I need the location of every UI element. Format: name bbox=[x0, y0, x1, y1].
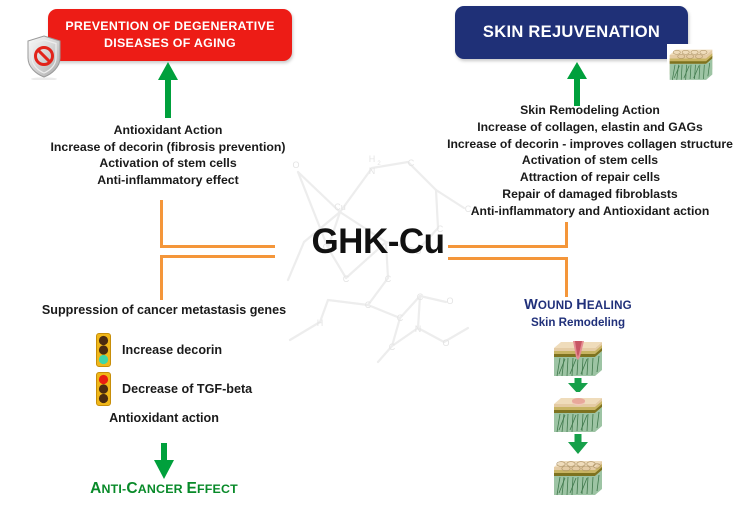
skin-wound-closing-icon bbox=[551, 392, 605, 434]
arrow-down-healing-2 bbox=[567, 434, 589, 454]
center-label-ghk-cu: GHK-Cu bbox=[278, 222, 478, 262]
skin-healed-icon bbox=[551, 455, 605, 497]
anti-cancer-effect-label: ANTI-CANCER EFFECT bbox=[14, 480, 314, 498]
diagram-canvas: O H 2 N C Cu C O C C C C H C C O N C O C… bbox=[0, 0, 756, 508]
svg-text:H: H bbox=[369, 154, 376, 164]
skin-rejuvenation-title-box: SKIN REJUVENATION bbox=[455, 6, 688, 59]
left-effect-3: Anti-inflammatory effect bbox=[20, 172, 316, 189]
svg-text:C: C bbox=[365, 300, 372, 310]
wound-healing-subtitle: Skin Remodeling bbox=[478, 316, 678, 329]
left-effect-0: Antioxidant Action bbox=[20, 122, 316, 139]
prevention-title-line1: PREVENTION OF DEGENERATIVE bbox=[65, 19, 274, 33]
svg-text:C: C bbox=[389, 342, 396, 352]
traffic-light-red-icon bbox=[96, 372, 111, 406]
right-effect-4: Attraction of repair cells bbox=[424, 169, 756, 186]
left-effect-2: Activation of stem cells bbox=[20, 155, 316, 172]
prevention-title-box: PREVENTION OF DEGENERATIVE DISEASES OF A… bbox=[48, 9, 292, 61]
connector-right-lower-vertical bbox=[565, 257, 568, 297]
anticancer-c: C bbox=[126, 480, 137, 497]
svg-text:C: C bbox=[408, 158, 415, 168]
right-effect-5: Repair of damaged fibroblasts bbox=[424, 186, 756, 203]
svg-text:2: 2 bbox=[377, 161, 381, 167]
svg-text:C: C bbox=[343, 274, 350, 284]
left-effects-list: Antioxidant Action Increase of decorin (… bbox=[20, 122, 316, 188]
wound-healing-title: WOUND HEALING bbox=[478, 297, 678, 313]
skin-rejuvenation-title: SKIN REJUVENATION bbox=[483, 23, 660, 42]
svg-text:C: C bbox=[417, 292, 424, 302]
connector-right-upper-horizontal bbox=[448, 245, 568, 248]
anticancer-e: E bbox=[186, 480, 197, 497]
connector-left-lower-horizontal bbox=[160, 255, 275, 258]
svg-text:N: N bbox=[415, 324, 422, 334]
wound-h: H bbox=[576, 297, 587, 313]
cancer-suppression-heading: Suppression of cancer metastasis genes bbox=[14, 303, 314, 317]
antioxidant-action-line: Antioxidant action bbox=[14, 411, 314, 425]
wound-ound: OUND bbox=[538, 299, 576, 312]
bullet-label-increase-decorin: Increase decorin bbox=[122, 343, 222, 357]
right-effect-6: Anti-inflammatory and Antioxidant action bbox=[424, 203, 756, 220]
arrow-up-left bbox=[156, 62, 180, 118]
bullet-row-decrease-tgf-beta: Decrease of TGF-beta bbox=[96, 372, 252, 406]
connector-left-lower-vertical bbox=[160, 255, 163, 300]
svg-text:O: O bbox=[442, 338, 449, 348]
svg-text:N: N bbox=[369, 166, 376, 176]
anticancer-ancer: ANCER bbox=[138, 482, 187, 496]
shield-prohibition-icon bbox=[24, 34, 64, 80]
left-effect-1: Increase of decorin (fibrosis prevention… bbox=[20, 139, 316, 156]
right-effects-list: Skin Remodeling Action Increase of colla… bbox=[424, 102, 756, 220]
connector-left-upper-horizontal bbox=[160, 245, 275, 248]
bullet-label-decrease-tgf-beta: Decrease of TGF-beta bbox=[122, 382, 252, 396]
svg-text:O: O bbox=[446, 296, 453, 306]
svg-text:C: C bbox=[397, 313, 404, 323]
skin-wound-open-icon bbox=[551, 336, 605, 378]
right-effect-2: Increase of decorin - improves collagen … bbox=[424, 136, 756, 153]
wound-w: W bbox=[524, 297, 538, 313]
anticancer-a: A bbox=[90, 480, 101, 497]
right-effect-0: Skin Remodeling Action bbox=[424, 102, 756, 119]
anticancer-ffect: FFECT bbox=[197, 482, 238, 496]
connector-right-upper-vertical bbox=[565, 222, 568, 248]
right-effect-1: Increase of collagen, elastin and GAGs bbox=[424, 119, 756, 136]
right-effect-3: Activation of stem cells bbox=[424, 152, 756, 169]
arrow-down-anticancer bbox=[152, 443, 176, 479]
connector-left-upper-vertical bbox=[160, 200, 163, 248]
anticancer-nti: NTI- bbox=[101, 482, 126, 496]
prevention-title-line2: DISEASES OF AGING bbox=[104, 36, 236, 50]
skin-cross-section-icon bbox=[667, 44, 715, 82]
svg-text:C: C bbox=[385, 274, 392, 284]
traffic-light-green-icon bbox=[96, 333, 111, 367]
svg-text:H: H bbox=[317, 318, 324, 328]
wound-ealing: EALING bbox=[587, 299, 632, 312]
connector-right-lower-horizontal bbox=[448, 257, 568, 260]
svg-text:Cu: Cu bbox=[334, 202, 346, 212]
bullet-row-increase-decorin: Increase decorin bbox=[96, 333, 222, 367]
arrow-up-right bbox=[565, 62, 589, 106]
